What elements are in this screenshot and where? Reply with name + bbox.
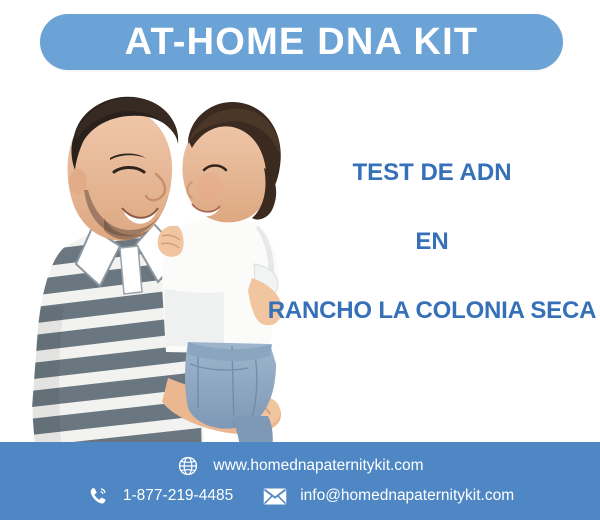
phone-text: 1-877-219-4485 bbox=[123, 487, 233, 505]
phone-contact[interactable]: 1-877-219-4485 bbox=[86, 484, 233, 508]
footer-contact-bar: www.homednapaternitykit.com 1-877-219-44… bbox=[0, 442, 600, 520]
header-badge: AT-HOME DNA KIT bbox=[40, 14, 563, 70]
poster-canvas: AT-HOME DNA KIT bbox=[0, 0, 600, 520]
phone-icon bbox=[86, 484, 110, 508]
envelope-icon bbox=[263, 484, 287, 508]
email-contact[interactable]: info@homednapaternitykit.com bbox=[263, 484, 514, 508]
headline-line-3: RANCHO LA COLONIA SECA bbox=[262, 298, 600, 323]
globe-icon bbox=[176, 454, 200, 478]
headline-line-1: TEST DE ADN bbox=[262, 160, 600, 185]
footer-phone-email-row: 1-877-219-4485 info@homednapaternitykit.… bbox=[0, 484, 600, 508]
email-text: info@homednapaternitykit.com bbox=[300, 487, 514, 505]
page-title: AT-HOME DNA KIT bbox=[125, 23, 479, 61]
headline-line-2: EN bbox=[262, 229, 600, 254]
website-text: www.homednapaternitykit.com bbox=[213, 457, 423, 475]
website-contact[interactable]: www.homednapaternitykit.com bbox=[176, 454, 423, 478]
footer-website-row: www.homednapaternitykit.com bbox=[0, 454, 600, 478]
headline-block: TEST DE ADN EN RANCHO LA COLONIA SECA bbox=[262, 160, 600, 324]
